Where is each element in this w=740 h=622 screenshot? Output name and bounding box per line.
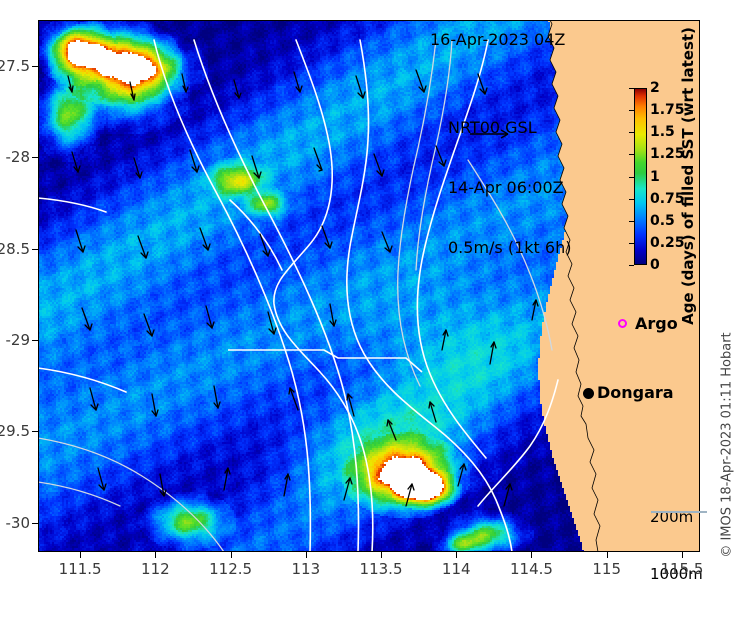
- y-axis-tick-label: -30: [6, 514, 31, 532]
- right-arrow-icon: [468, 127, 516, 141]
- colorbar-tick-label: 0.5: [650, 213, 675, 229]
- vector-arrow: [68, 76, 73, 92]
- colorbar: [634, 88, 647, 265]
- date-stamp: 16-Apr-2023 04Z: [430, 30, 565, 49]
- colorbar-title: Age (days) of filled SST (wrt latest): [679, 27, 697, 325]
- x-axis-tick-label: 113.5: [360, 560, 403, 578]
- colorbar-tick: [629, 199, 634, 200]
- colorbar-tick: [629, 243, 634, 244]
- y-axis-tick: [32, 157, 38, 158]
- vector-arrow: [458, 464, 466, 486]
- vector-arrow: [200, 228, 210, 250]
- contour-pale-e: [38, 482, 120, 506]
- vector-arrow: [160, 474, 166, 496]
- vector-arrow: [382, 232, 392, 252]
- x-axis-tick: [456, 552, 457, 558]
- vector-legend-block: NRT00 GSL 14-Apr 06:00Z 0.5m/s (1kt 6h): [448, 78, 571, 298]
- y-axis-tick: [32, 523, 38, 524]
- y-axis-tick-label: -28.5: [0, 240, 30, 258]
- vector-arrow: [72, 152, 80, 172]
- vector-arrow: [442, 330, 448, 350]
- colorbar-tick: [629, 265, 634, 266]
- vector-arrow: [490, 342, 496, 364]
- colorbar-tick: [629, 154, 634, 155]
- colorbar-tick-label: 1.5: [650, 124, 675, 140]
- vector-arrow: [344, 478, 352, 500]
- contour-pale-d: [38, 438, 224, 552]
- colorbar-tick: [629, 177, 634, 178]
- vector-arrow: [504, 484, 512, 506]
- vector-arrow: [294, 72, 302, 92]
- dongara-marker-icon: [583, 388, 594, 399]
- y-axis-tick-label: -28: [6, 148, 31, 166]
- vector-arrow: [387, 420, 396, 440]
- x-axis-tick-label: 112.5: [209, 560, 252, 578]
- vector-time-label: 14-Apr 06:00Z: [448, 178, 571, 198]
- vector-arrow: [268, 312, 276, 334]
- x-axis-tick: [306, 552, 307, 558]
- vector-arrow: [82, 308, 92, 330]
- vector-arrow: [356, 76, 365, 98]
- vector-arrow: [190, 150, 199, 172]
- x-axis-tick: [231, 552, 232, 558]
- colorbar-tick-label: 1: [650, 169, 660, 185]
- contour-shelf-line: [228, 350, 422, 372]
- argo-marker-icon: [618, 319, 627, 328]
- contour-line-g: [38, 368, 126, 392]
- vector-arrow: [144, 314, 154, 336]
- x-axis-tick: [607, 552, 608, 558]
- dongara-place-label: Dongara: [597, 383, 674, 402]
- vector-arrow: [406, 484, 414, 506]
- colorbar-tick: [629, 110, 634, 111]
- colorbar-tick: [629, 221, 634, 222]
- vector-arrow: [532, 300, 538, 320]
- x-axis-tick: [531, 552, 532, 558]
- map-plot-area[interactable]: [38, 20, 700, 552]
- y-axis-tick-label: -29: [6, 331, 31, 349]
- x-axis-tick: [155, 552, 156, 558]
- contour-pale-a: [398, 40, 436, 386]
- vector-arrow: [138, 236, 148, 258]
- y-axis-tick: [32, 66, 38, 67]
- x-axis-tick-label: 114.5: [510, 560, 553, 578]
- y-axis-tick: [32, 249, 38, 250]
- vector-arrow: [152, 394, 158, 416]
- vector-arrow: [214, 386, 220, 408]
- credit-label: © IMOS 18-Apr-2023 01:11 Hobart: [720, 332, 735, 557]
- colorbar-tick-label: 2: [650, 80, 660, 96]
- x-axis-tick: [80, 552, 81, 558]
- vector-arrow: [234, 80, 241, 98]
- colorbar-tick: [629, 88, 634, 89]
- y-axis-tick: [32, 340, 38, 341]
- contour-pale-b: [416, 40, 452, 270]
- x-axis-tick-label: 113: [291, 560, 320, 578]
- vector-arrow: [436, 146, 446, 166]
- vector-arrow: [330, 304, 336, 326]
- x-axis-tick-label: 114: [442, 560, 471, 578]
- vector-arrow: [374, 154, 384, 176]
- contour-line-b: [194, 40, 358, 552]
- y-axis-tick-label: -29.5: [0, 422, 30, 440]
- colorbar-tick: [629, 132, 634, 133]
- vector-arrow: [76, 230, 85, 252]
- vector-scale-label: 0.5m/s (1kt 6h): [448, 238, 571, 258]
- vector-arrow: [416, 70, 426, 92]
- vector-arrow: [429, 402, 436, 422]
- y-axis-tick-label: -27.5: [0, 57, 30, 75]
- x-axis-tick: [381, 552, 382, 558]
- bathymetry-legend-line: [651, 511, 707, 513]
- x-axis-tick-label: 111.5: [59, 560, 102, 578]
- vector-arrow: [130, 82, 135, 100]
- x-axis-tick-label: 112: [141, 560, 170, 578]
- vector-arrow: [90, 388, 98, 410]
- vector-arrow: [284, 474, 290, 496]
- vector-arrow: [206, 306, 214, 328]
- vector-arrow: [314, 148, 322, 171]
- map-overlay-layer: [38, 20, 700, 552]
- x-axis-tick-label: 115: [592, 560, 621, 578]
- figure-canvas: 16-Apr-2023 04Z NRT00 GSL 14-Apr 06:00Z …: [0, 0, 740, 592]
- x-axis-tick: [682, 552, 683, 558]
- vector-arrow: [182, 74, 188, 92]
- vector-arrow: [134, 158, 142, 178]
- contour-line-f: [38, 198, 106, 212]
- y-axis-tick: [32, 431, 38, 432]
- vector-arrow: [322, 226, 332, 248]
- argo-legend-label: Argo: [635, 314, 678, 333]
- colorbar-tick-label: 0: [650, 257, 660, 273]
- vector-arrow: [252, 156, 261, 178]
- vector-arrow: [98, 468, 106, 490]
- bathymetry-legend: 200m 1000m: [650, 470, 703, 622]
- vector-arrow: [224, 468, 230, 490]
- x-axis-tick-label: 115.5: [660, 560, 703, 578]
